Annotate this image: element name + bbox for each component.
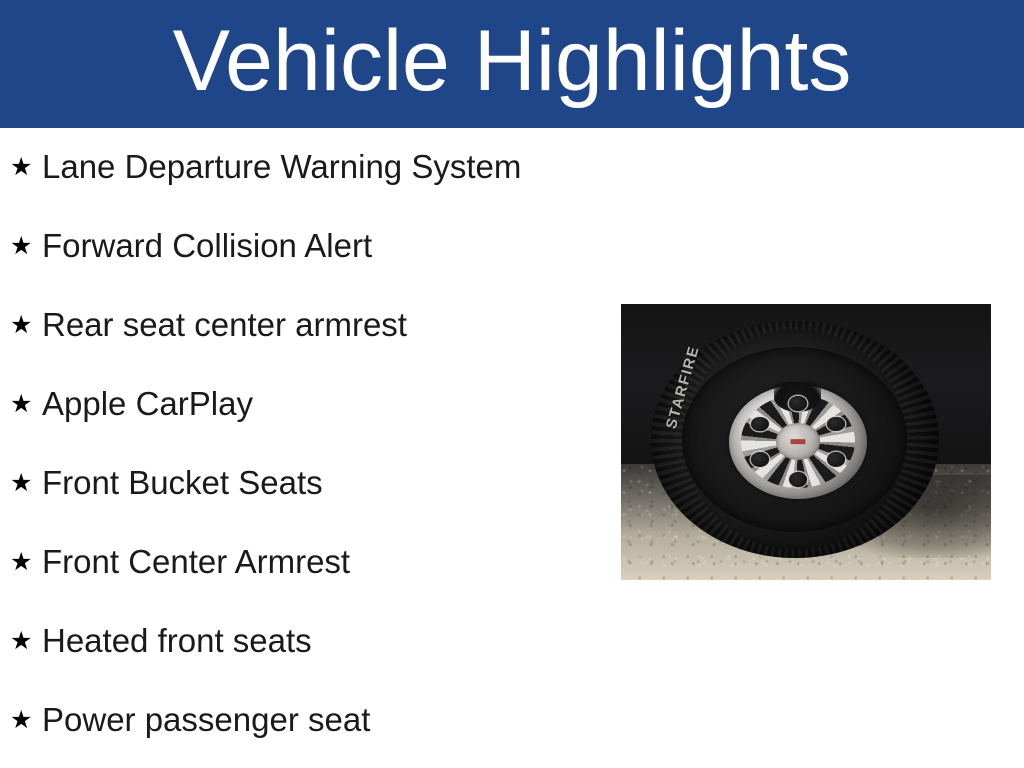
highlight-label: Front Center Armrest [42,545,350,579]
star-bullet-icon: ★ [10,466,42,500]
list-item: ★ Rear seat center armrest [0,286,600,365]
lug-nut [827,417,845,432]
lug-nut [751,452,769,467]
slide-body: ★ Lane Departure Warning System ★ Forwar… [0,128,1024,768]
manufacturer-emblem-icon [790,439,805,445]
vehicle-highlights-list: ★ Lane Departure Warning System ★ Forwar… [0,128,600,760]
list-item: ★ Forward Collision Alert [0,207,600,286]
wheel-center-cap [776,423,820,459]
lug-nut [751,417,769,432]
tire: STARFIRE [651,321,940,558]
header-banner: Vehicle Highlights [0,0,1024,128]
highlight-label: Power passenger seat [42,703,370,737]
page-title: Vehicle Highlights [173,18,852,110]
highlight-label: Apple CarPlay [42,387,253,421]
vehicle-wheel-photo: STARFIRE [621,304,991,580]
highlight-label: Heated front seats [42,624,312,658]
star-bullet-icon: ★ [10,308,42,342]
star-bullet-icon: ★ [10,545,42,579]
highlight-label: Rear seat center armrest [42,308,407,342]
photo-scene: STARFIRE [621,304,991,580]
highlight-label: Lane Departure Warning System [42,150,521,184]
star-bullet-icon: ★ [10,387,42,421]
list-item: ★ Power passenger seat [0,681,600,760]
lug-nut [789,396,807,411]
star-bullet-icon: ★ [10,150,42,184]
star-bullet-icon: ★ [10,703,42,737]
list-item: ★ Front Bucket Seats [0,444,600,523]
highlight-label: Front Bucket Seats [42,466,323,500]
alloy-wheel-rim [729,385,868,499]
star-bullet-icon: ★ [10,624,42,658]
list-item: ★ Apple CarPlay [0,365,600,444]
list-item: ★ Heated front seats [0,602,600,681]
star-bullet-icon: ★ [10,229,42,263]
highlight-label: Forward Collision Alert [42,229,372,263]
lug-nut [827,452,845,467]
lug-nut [789,472,807,487]
list-item: ★ Front Center Armrest [0,523,600,602]
list-item: ★ Lane Departure Warning System [0,128,600,207]
